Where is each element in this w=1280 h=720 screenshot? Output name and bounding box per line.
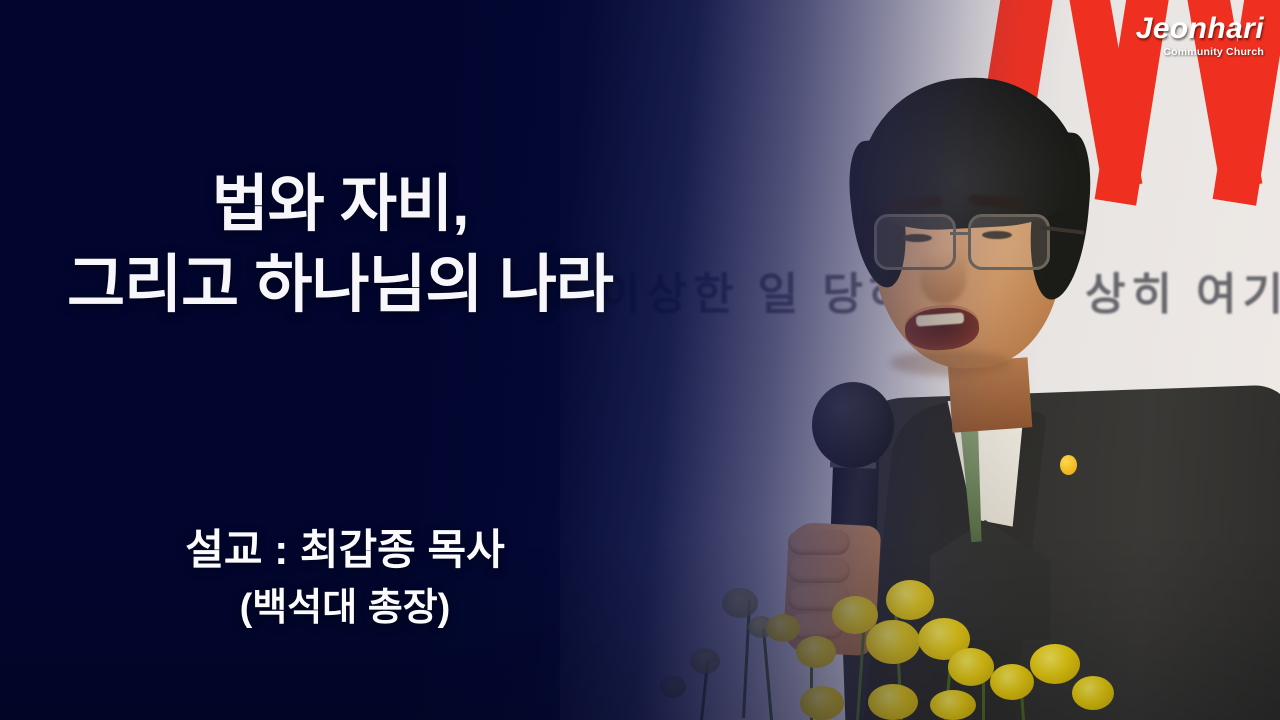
preacher-name: 설교 : 최갑종 목사 bbox=[0, 516, 690, 577]
logo-name: Jeonhari bbox=[1136, 14, 1264, 44]
preacher-affiliation: (백석대 총장) bbox=[0, 576, 690, 631]
channel-logo: Jeonhari Community Church bbox=[1136, 14, 1264, 58]
slide-canvas: 이상한 일 당하 상히 여기지 bbox=[0, 0, 1280, 720]
text-layer: 법와 자비, 그리고 하나님의 나라 설교 : 최갑종 목사 (백석대 총장) bbox=[0, 0, 1280, 720]
sermon-title-line-1: 법와 자비, bbox=[0, 168, 680, 241]
logo-tagline: Community Church bbox=[1136, 47, 1264, 58]
sermon-title-line-2: 그리고 하나님의 나라 bbox=[0, 248, 680, 322]
